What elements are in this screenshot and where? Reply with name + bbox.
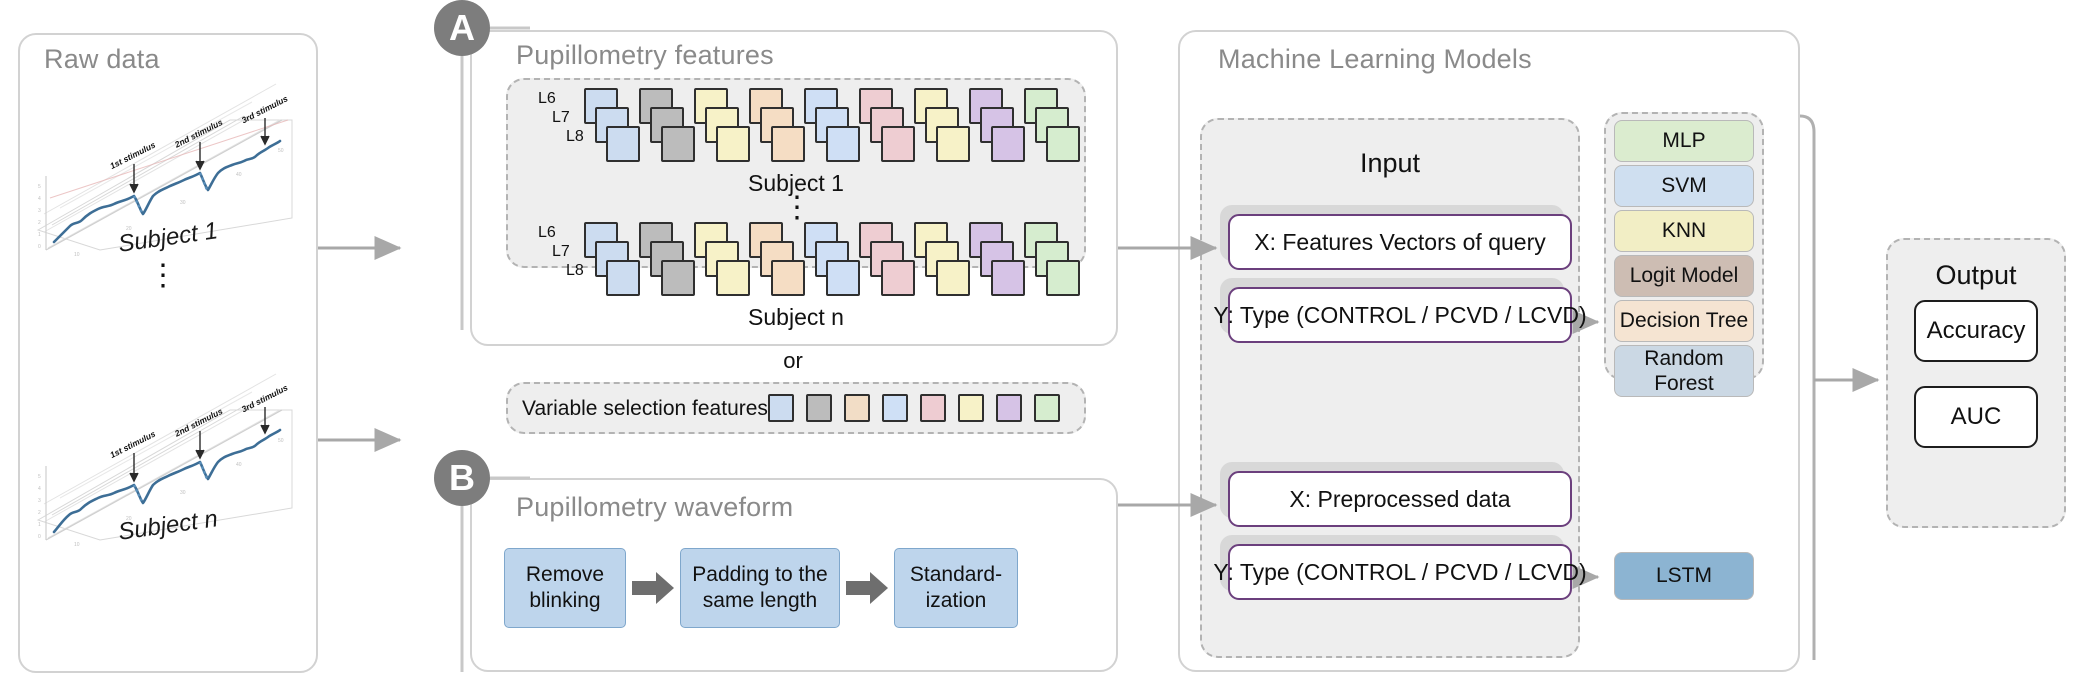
input-y-type-2: Y: Type (CONTROL / PCVD / LCVD) xyxy=(1228,544,1572,600)
variable-selection-chip xyxy=(882,394,908,422)
layer-label-l8: L8 xyxy=(566,128,584,146)
svg-text:1: 1 xyxy=(38,232,41,238)
badge-b: B xyxy=(434,450,490,506)
feature-card-l8 xyxy=(936,260,970,296)
variable-selection-chip xyxy=(958,394,984,422)
svg-text:5: 5 xyxy=(38,184,41,190)
feature-card-l8 xyxy=(661,260,695,296)
input-x-preprocessed-data: X: Preprocessed data xyxy=(1228,471,1572,527)
feature-card-l8 xyxy=(1046,126,1080,162)
input-y-type-1: Y: Type (CONTROL / PCVD / LCVD) xyxy=(1228,287,1572,343)
svg-text:30: 30 xyxy=(180,490,186,496)
feature-rows-ellipsis: ⋮ xyxy=(782,200,810,215)
layer-label-l7: L7 xyxy=(552,243,570,261)
feature-card-l8 xyxy=(606,260,640,296)
feature-cards-subject-1: L6 L7 L8 xyxy=(540,88,1080,164)
variable-selection-chip xyxy=(844,394,870,422)
layer-label-l7: L7 xyxy=(552,109,570,127)
svg-text:0: 0 xyxy=(38,534,41,540)
feature-card-l8 xyxy=(826,126,860,162)
figure-canvas: Raw data xyxy=(0,0,2080,684)
feature-card-l8 xyxy=(716,126,750,162)
svg-text:2: 2 xyxy=(38,510,41,516)
features-or-label: or xyxy=(738,348,848,374)
svg-text:10: 10 xyxy=(74,542,80,548)
feature-card-l8 xyxy=(881,260,915,296)
feature-card-l8 xyxy=(826,260,860,296)
feature-cards-subject-n: L6 L7 L8 xyxy=(540,222,1080,298)
variable-selection-chip xyxy=(1034,394,1060,422)
svg-text:3: 3 xyxy=(38,498,41,504)
variable-selection-chip xyxy=(920,394,946,422)
feature-card-l8 xyxy=(936,126,970,162)
feature-card-l8 xyxy=(1046,260,1080,296)
feature-card-l8 xyxy=(881,126,915,162)
svg-text:0: 0 xyxy=(38,244,41,250)
svg-text:10: 10 xyxy=(74,252,80,258)
svg-text:30: 30 xyxy=(180,200,186,206)
svg-text:50: 50 xyxy=(278,438,284,444)
svg-text:2: 2 xyxy=(38,220,41,226)
feature-card-l8 xyxy=(661,126,695,162)
svg-text:4: 4 xyxy=(38,486,41,492)
svg-text:4: 4 xyxy=(38,196,41,202)
variable-selection-label: Variable selection features: xyxy=(522,397,774,421)
input-x-preprocessed-data-label: X: Preprocessed data xyxy=(1289,486,1510,513)
feature-card-l8 xyxy=(771,260,805,296)
variable-selection-chip xyxy=(996,394,1022,422)
raw-data-ellipsis: ⋮ xyxy=(148,268,176,283)
svg-text:50: 50 xyxy=(278,148,284,154)
feature-card-l8 xyxy=(991,126,1025,162)
variable-selection-chip xyxy=(768,394,794,422)
layer-label-l6: L6 xyxy=(538,224,556,242)
feature-card-l8 xyxy=(716,260,750,296)
svg-text:5: 5 xyxy=(38,474,41,480)
input-x-features-vectors: X: Features Vectors of query xyxy=(1228,214,1572,270)
variable-selection-chips xyxy=(768,394,1068,424)
svg-text:40: 40 xyxy=(236,172,242,178)
input-x-features-vectors-label: X: Features Vectors of query xyxy=(1254,229,1545,256)
input-y-type-1-label: Y: Type (CONTROL / PCVD / LCVD) xyxy=(1213,302,1586,329)
svg-text:1: 1 xyxy=(38,522,41,528)
layer-label-l6: L6 xyxy=(538,90,556,108)
feature-card-l8 xyxy=(991,260,1025,296)
feature-card-l8 xyxy=(771,126,805,162)
variable-selection-chip xyxy=(806,394,832,422)
badge-a: A xyxy=(434,0,490,56)
svg-text:40: 40 xyxy=(236,462,242,468)
feature-card-l8 xyxy=(606,126,640,162)
layer-label-l8: L8 xyxy=(566,262,584,280)
input-y-type-2-label: Y: Type (CONTROL / PCVD / LCVD) xyxy=(1213,559,1586,586)
svg-text:3: 3 xyxy=(38,208,41,214)
feature-row-label-subject-n: Subject n xyxy=(686,304,906,331)
